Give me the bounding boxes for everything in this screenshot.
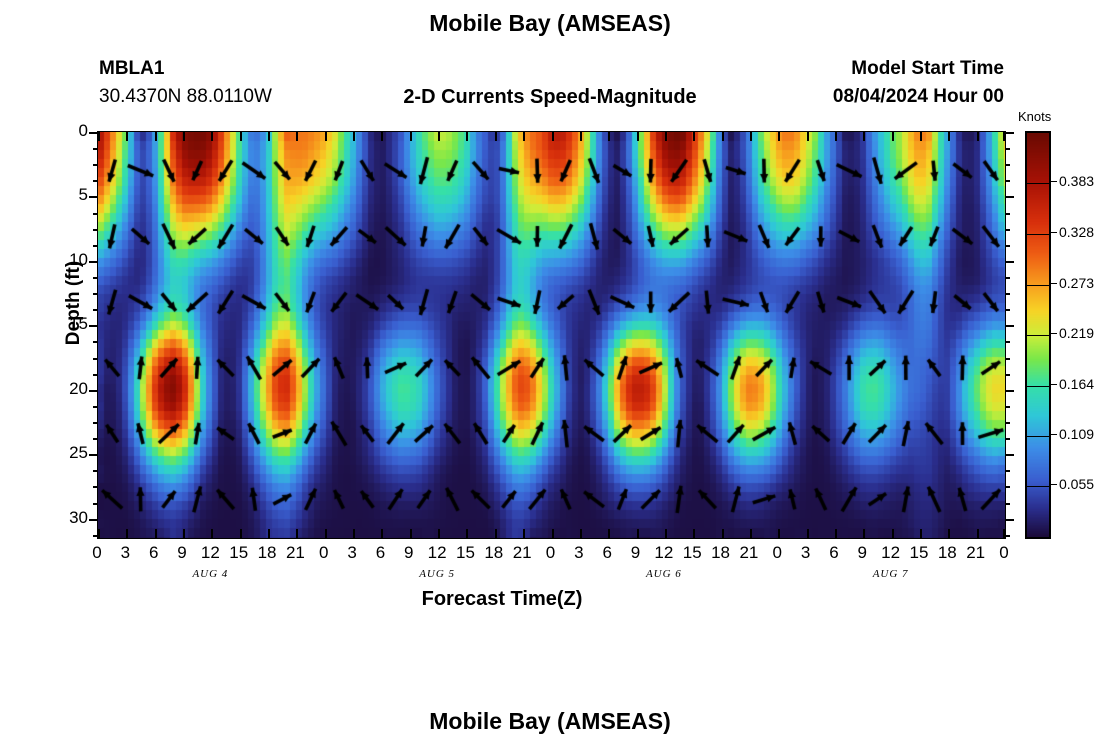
colorbar-units-label: Knots [1018, 109, 1051, 124]
x-axis-tick [466, 529, 468, 538]
y-axis-minor-tick [93, 148, 98, 150]
x-axis-tick [552, 529, 554, 538]
footer-title: Mobile Bay (AMSEAS) [0, 708, 1100, 735]
y-axis-minor-tick [1005, 438, 1010, 440]
y-axis-minor-tick [93, 293, 98, 295]
x-axis-tick [240, 529, 242, 538]
x-axis-tick [240, 132, 242, 141]
x-axis-tick [948, 529, 950, 538]
x-axis-tick [948, 132, 950, 141]
colorbar-tick-label: 0.219 [1059, 325, 1094, 341]
x-axis-tick [353, 132, 355, 141]
y-axis-title: Depth (ft) [63, 223, 85, 383]
current-vector-arrows [98, 132, 1005, 538]
x-axis-tick [381, 132, 383, 141]
x-axis-tick [807, 529, 809, 538]
x-axis-tick [98, 132, 100, 141]
colorbar-gridline [1027, 335, 1049, 336]
x-axis-tick [410, 132, 412, 141]
y-axis-minor-tick [1005, 164, 1010, 166]
y-axis-tick [89, 454, 98, 456]
colorbar-tick [1049, 333, 1057, 334]
colorbar-tick [1049, 484, 1057, 485]
y-axis-minor-tick [1005, 293, 1010, 295]
x-axis-tick [722, 132, 724, 141]
colorbar-tick-label: 0.328 [1059, 224, 1094, 240]
colorbar-tick [1049, 283, 1057, 284]
x-axis-tick [438, 529, 440, 538]
y-axis-tick [1005, 390, 1014, 392]
x-axis-tick [155, 132, 157, 141]
model-start-time-value: 08/04/2024 Hour 00 [0, 86, 1004, 108]
x-axis-tick [892, 132, 894, 141]
x-axis-tick [183, 132, 185, 141]
x-axis-tick [580, 132, 582, 141]
x-axis-tick [98, 529, 100, 538]
x-axis-tick [495, 132, 497, 141]
y-axis-minor-tick [93, 164, 98, 166]
x-axis-tick [722, 529, 724, 538]
colorbar [1025, 131, 1051, 539]
colorbar-gridline [1027, 183, 1049, 184]
y-axis-tick [1005, 196, 1014, 198]
x-axis-tick [410, 529, 412, 538]
y-axis-tick [89, 519, 98, 521]
x-axis-tick [693, 529, 695, 538]
x-axis-tick-label: 0 [984, 543, 1024, 563]
x-axis-tick [183, 529, 185, 538]
colorbar-gridline [1027, 234, 1049, 235]
x-axis-tick [807, 132, 809, 141]
colorbar-tick-label: 0.383 [1059, 173, 1094, 189]
y-axis-minor-tick [93, 406, 98, 408]
x-axis-tick [637, 529, 639, 538]
x-axis-tick [438, 132, 440, 141]
y-axis-tick [1005, 132, 1014, 134]
x-axis-title: Forecast Time(Z) [0, 588, 1004, 611]
y-axis-minor-tick [93, 470, 98, 472]
page-title: Mobile Bay (AMSEAS) [0, 10, 1100, 37]
y-axis-minor-tick [1005, 180, 1010, 182]
y-axis-tick [1005, 325, 1014, 327]
x-axis-tick [920, 132, 922, 141]
x-axis-tick [495, 529, 497, 538]
y-axis-minor-tick [1005, 374, 1010, 376]
y-axis-tick-label: 15 [48, 314, 88, 334]
y-axis-minor-tick [93, 277, 98, 279]
x-axis-tick [920, 529, 922, 538]
y-axis-minor-tick [1005, 358, 1010, 360]
y-axis-tick-label: 30 [48, 508, 88, 528]
x-axis-tick [523, 132, 525, 141]
x-axis-tick [835, 132, 837, 141]
y-axis-minor-tick [93, 438, 98, 440]
y-axis-tick [1005, 519, 1014, 521]
y-axis-minor-tick [93, 213, 98, 215]
y-axis-tick [89, 196, 98, 198]
y-axis-minor-tick [93, 341, 98, 343]
x-axis-tick [296, 132, 298, 141]
x-axis-tick [892, 529, 894, 538]
model-start-time-label: Model Start Time [0, 58, 1004, 80]
colorbar-tick-label: 0.164 [1059, 376, 1094, 392]
x-axis-tick [325, 529, 327, 538]
x-axis-tick [353, 529, 355, 538]
x-axis-tick [693, 132, 695, 141]
y-axis-minor-tick [93, 229, 98, 231]
colorbar-gridline [1027, 436, 1049, 437]
y-axis-minor-tick [1005, 245, 1010, 247]
x-axis-tick [977, 132, 979, 141]
y-axis-tick [89, 390, 98, 392]
x-axis-day-label: AUG 4 [170, 568, 250, 580]
x-axis-tick [466, 132, 468, 141]
colorbar-tick [1049, 181, 1057, 182]
x-axis-day-label: AUG 7 [851, 568, 931, 580]
y-axis-minor-tick [1005, 213, 1010, 215]
y-axis-tick-label: 5 [48, 185, 88, 205]
x-axis-tick [211, 529, 213, 538]
x-axis-tick [835, 529, 837, 538]
y-axis-minor-tick [1005, 406, 1010, 408]
x-axis-tick [580, 529, 582, 538]
x-axis-tick [608, 529, 610, 538]
x-axis-tick [863, 132, 865, 141]
colorbar-tick [1049, 434, 1057, 435]
y-axis-minor-tick [93, 503, 98, 505]
y-axis-minor-tick [93, 309, 98, 311]
colorbar-tick-label: 0.273 [1059, 275, 1094, 291]
y-axis-minor-tick [1005, 470, 1010, 472]
y-axis-minor-tick [93, 358, 98, 360]
y-axis-tick [89, 261, 98, 263]
y-axis-minor-tick [1005, 486, 1010, 488]
colorbar-gridline [1027, 486, 1049, 487]
y-axis-minor-tick [1005, 422, 1010, 424]
colorbar-tick [1049, 232, 1057, 233]
colorbar-tick-label: 0.109 [1059, 426, 1094, 442]
y-axis-tick [1005, 261, 1014, 263]
x-axis-tick [665, 529, 667, 538]
x-axis-tick [523, 529, 525, 538]
y-axis-minor-tick [1005, 148, 1010, 150]
x-axis-day-label: AUG 5 [397, 568, 477, 580]
colorbar-gridline [1027, 386, 1049, 387]
y-axis-minor-tick [1005, 277, 1010, 279]
x-axis-tick [665, 132, 667, 141]
x-axis-tick [552, 132, 554, 141]
y-axis-minor-tick [93, 535, 98, 537]
x-axis-tick [778, 529, 780, 538]
y-axis-tick [89, 132, 98, 134]
x-axis-tick [750, 132, 752, 141]
y-axis-minor-tick [93, 180, 98, 182]
y-axis-minor-tick [1005, 535, 1010, 537]
y-axis-minor-tick [1005, 341, 1010, 343]
x-axis-tick [296, 529, 298, 538]
x-axis-tick [637, 132, 639, 141]
y-axis-tick-label: 20 [48, 379, 88, 399]
x-axis-tick [381, 529, 383, 538]
y-axis-tick [1005, 454, 1014, 456]
y-axis-minor-tick [93, 422, 98, 424]
y-axis-minor-tick [1005, 503, 1010, 505]
y-axis-tick [89, 325, 98, 327]
colorbar-gridline [1027, 285, 1049, 286]
x-axis-tick [778, 132, 780, 141]
y-axis-minor-tick [93, 245, 98, 247]
y-axis-minor-tick [93, 374, 98, 376]
heatmap-plot-area [97, 131, 1006, 539]
x-axis-tick [268, 132, 270, 141]
y-axis-tick-label: 10 [48, 250, 88, 270]
x-axis-tick [126, 132, 128, 141]
x-axis-tick [608, 132, 610, 141]
y-axis-minor-tick [1005, 309, 1010, 311]
colorbar-tick-label: 0.055 [1059, 476, 1094, 492]
y-axis-minor-tick [93, 486, 98, 488]
x-axis-tick [750, 529, 752, 538]
x-axis-tick [863, 529, 865, 538]
y-axis-minor-tick [1005, 229, 1010, 231]
y-axis-tick-label: 0 [48, 121, 88, 141]
x-axis-tick [325, 132, 327, 141]
x-axis-tick [155, 529, 157, 538]
x-axis-tick [977, 529, 979, 538]
x-axis-tick [126, 529, 128, 538]
x-axis-tick [211, 132, 213, 141]
x-axis-tick [268, 529, 270, 538]
x-axis-day-label: AUG 6 [624, 568, 704, 580]
colorbar-tick [1049, 384, 1057, 385]
y-axis-tick-label: 25 [48, 443, 88, 463]
